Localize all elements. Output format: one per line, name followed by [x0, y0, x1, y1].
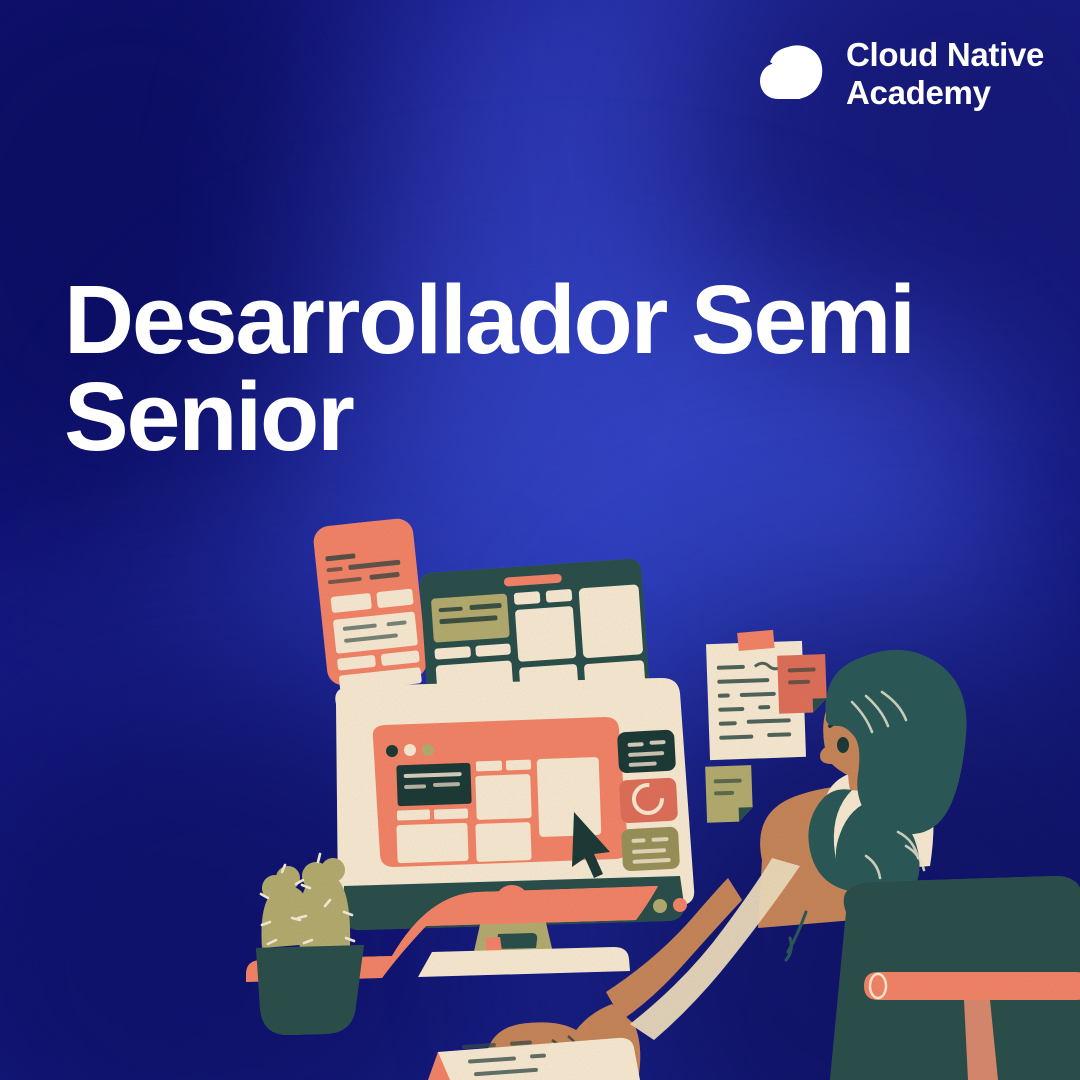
brand-name: Cloud NativeAcademy: [846, 36, 1044, 111]
headline-line-2: Senior: [64, 362, 353, 471]
illustration: [0, 0, 1080, 1080]
poster-canvas: Cloud NativeAcademy Desarrollador Semi S…: [0, 0, 1080, 1080]
monitor-widgets: [617, 730, 680, 872]
sticky-note-olive: [705, 765, 753, 823]
cloud-icon: [758, 43, 830, 105]
headline-line-1: Desarrollador Semi: [64, 265, 914, 374]
brand-logo[interactable]: Cloud NativeAcademy: [758, 36, 1044, 111]
office-chair: [830, 876, 1080, 1080]
chair-armrest: [864, 972, 1080, 1000]
sticky-note-coral: [777, 654, 827, 714]
page-title: Desarrollador Semi Senior: [64, 271, 964, 465]
phone: [312, 514, 429, 693]
